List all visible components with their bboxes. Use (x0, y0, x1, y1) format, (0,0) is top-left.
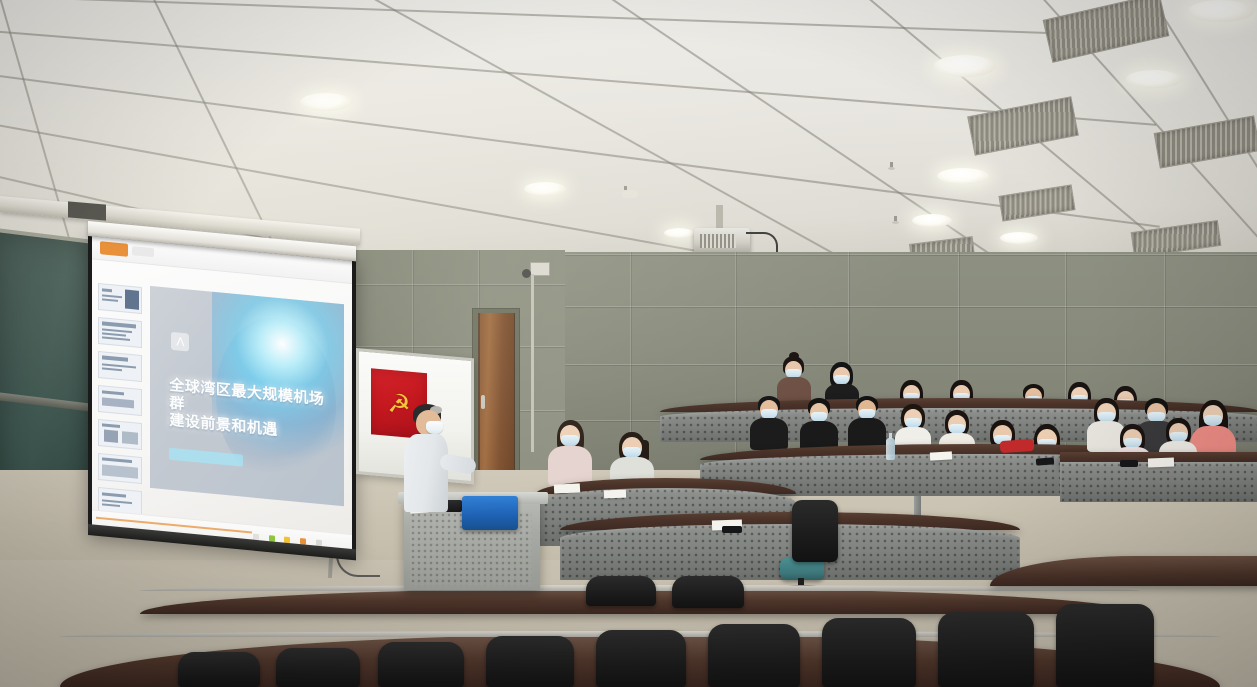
desk-row-foreground-3 (990, 556, 1257, 586)
hvac-vent (998, 184, 1075, 221)
red-folder (1000, 439, 1035, 453)
blue-bag (462, 496, 518, 530)
slide-thumbnail[interactable] (98, 317, 142, 348)
paper (554, 483, 580, 493)
chair[interactable] (1184, 370, 1236, 395)
audience-member (548, 420, 592, 486)
paper (930, 451, 952, 460)
sprinkler (888, 162, 895, 171)
sprinkler (892, 216, 899, 225)
screen-bracket (68, 201, 106, 220)
chair[interactable] (672, 576, 744, 608)
ceiling-light (912, 214, 952, 227)
phone (1036, 457, 1054, 465)
chair[interactable] (728, 476, 776, 498)
ceiling-light (524, 182, 566, 196)
swivel-chair-back[interactable] (792, 500, 838, 562)
door-handle[interactable] (481, 395, 485, 409)
hvac-vent (1154, 115, 1257, 168)
chair[interactable] (1056, 604, 1154, 687)
chair[interactable] (896, 360, 942, 382)
hvac-vent (1043, 0, 1170, 63)
slide-logo-icon: Λ (171, 332, 189, 352)
hair-bun (789, 352, 799, 360)
presenter (404, 404, 452, 512)
projection-screen: Λ 全球湾区最大规模机场群 建设前景和机遇 (88, 232, 356, 557)
chair[interactable] (556, 506, 606, 530)
chair[interactable] (586, 576, 656, 606)
ceiling-light (300, 93, 352, 111)
slide-thumbnail-panel[interactable] (98, 283, 140, 489)
chair[interactable] (486, 636, 574, 687)
paper (1148, 458, 1174, 468)
current-slide: Λ 全球湾区最大规模机场群 建设前景和机遇 (150, 286, 344, 506)
ceiling-light (1000, 232, 1038, 244)
lecture-hall-photo: Λ 全球湾区最大规模机场群 建设前景和机遇 ☭ (0, 0, 1257, 687)
chair[interactable] (596, 630, 686, 687)
desk-front-panel (1060, 462, 1257, 502)
ceiling-light (1126, 70, 1182, 88)
slide-thumbnail[interactable] (98, 283, 142, 314)
ceiling-light (1188, 0, 1254, 22)
chair[interactable] (672, 470, 720, 492)
ceiling-projector (694, 228, 750, 254)
projected-image: Λ 全球湾区最大规模机场群 建设前景和机遇 (92, 236, 352, 553)
phone (1120, 460, 1138, 467)
chair[interactable] (178, 652, 260, 687)
chair[interactable] (938, 612, 1034, 687)
ceiling-light (934, 55, 996, 77)
hvac-vent (967, 96, 1079, 155)
paper (604, 490, 626, 499)
slide-thumbnail[interactable] (98, 385, 142, 416)
slide-thumbnail[interactable] (98, 419, 142, 450)
chair[interactable] (276, 648, 360, 687)
smoke-detector (622, 190, 638, 198)
chair[interactable] (600, 420, 644, 440)
ceiling-light (937, 168, 989, 184)
water-bottle (886, 438, 895, 460)
slide-thumbnail[interactable] (98, 453, 142, 484)
chair[interactable] (708, 624, 800, 687)
editor-active-tab[interactable] (100, 241, 128, 257)
chair[interactable] (378, 642, 464, 687)
chair[interactable] (822, 618, 916, 687)
face-mask (426, 421, 443, 434)
ceiling-light (664, 228, 694, 238)
phone (722, 526, 742, 533)
slide-light-burst (212, 286, 344, 473)
slide-thumbnail[interactable] (98, 351, 142, 382)
audience-member (750, 396, 788, 450)
editor-tab[interactable] (132, 246, 154, 257)
